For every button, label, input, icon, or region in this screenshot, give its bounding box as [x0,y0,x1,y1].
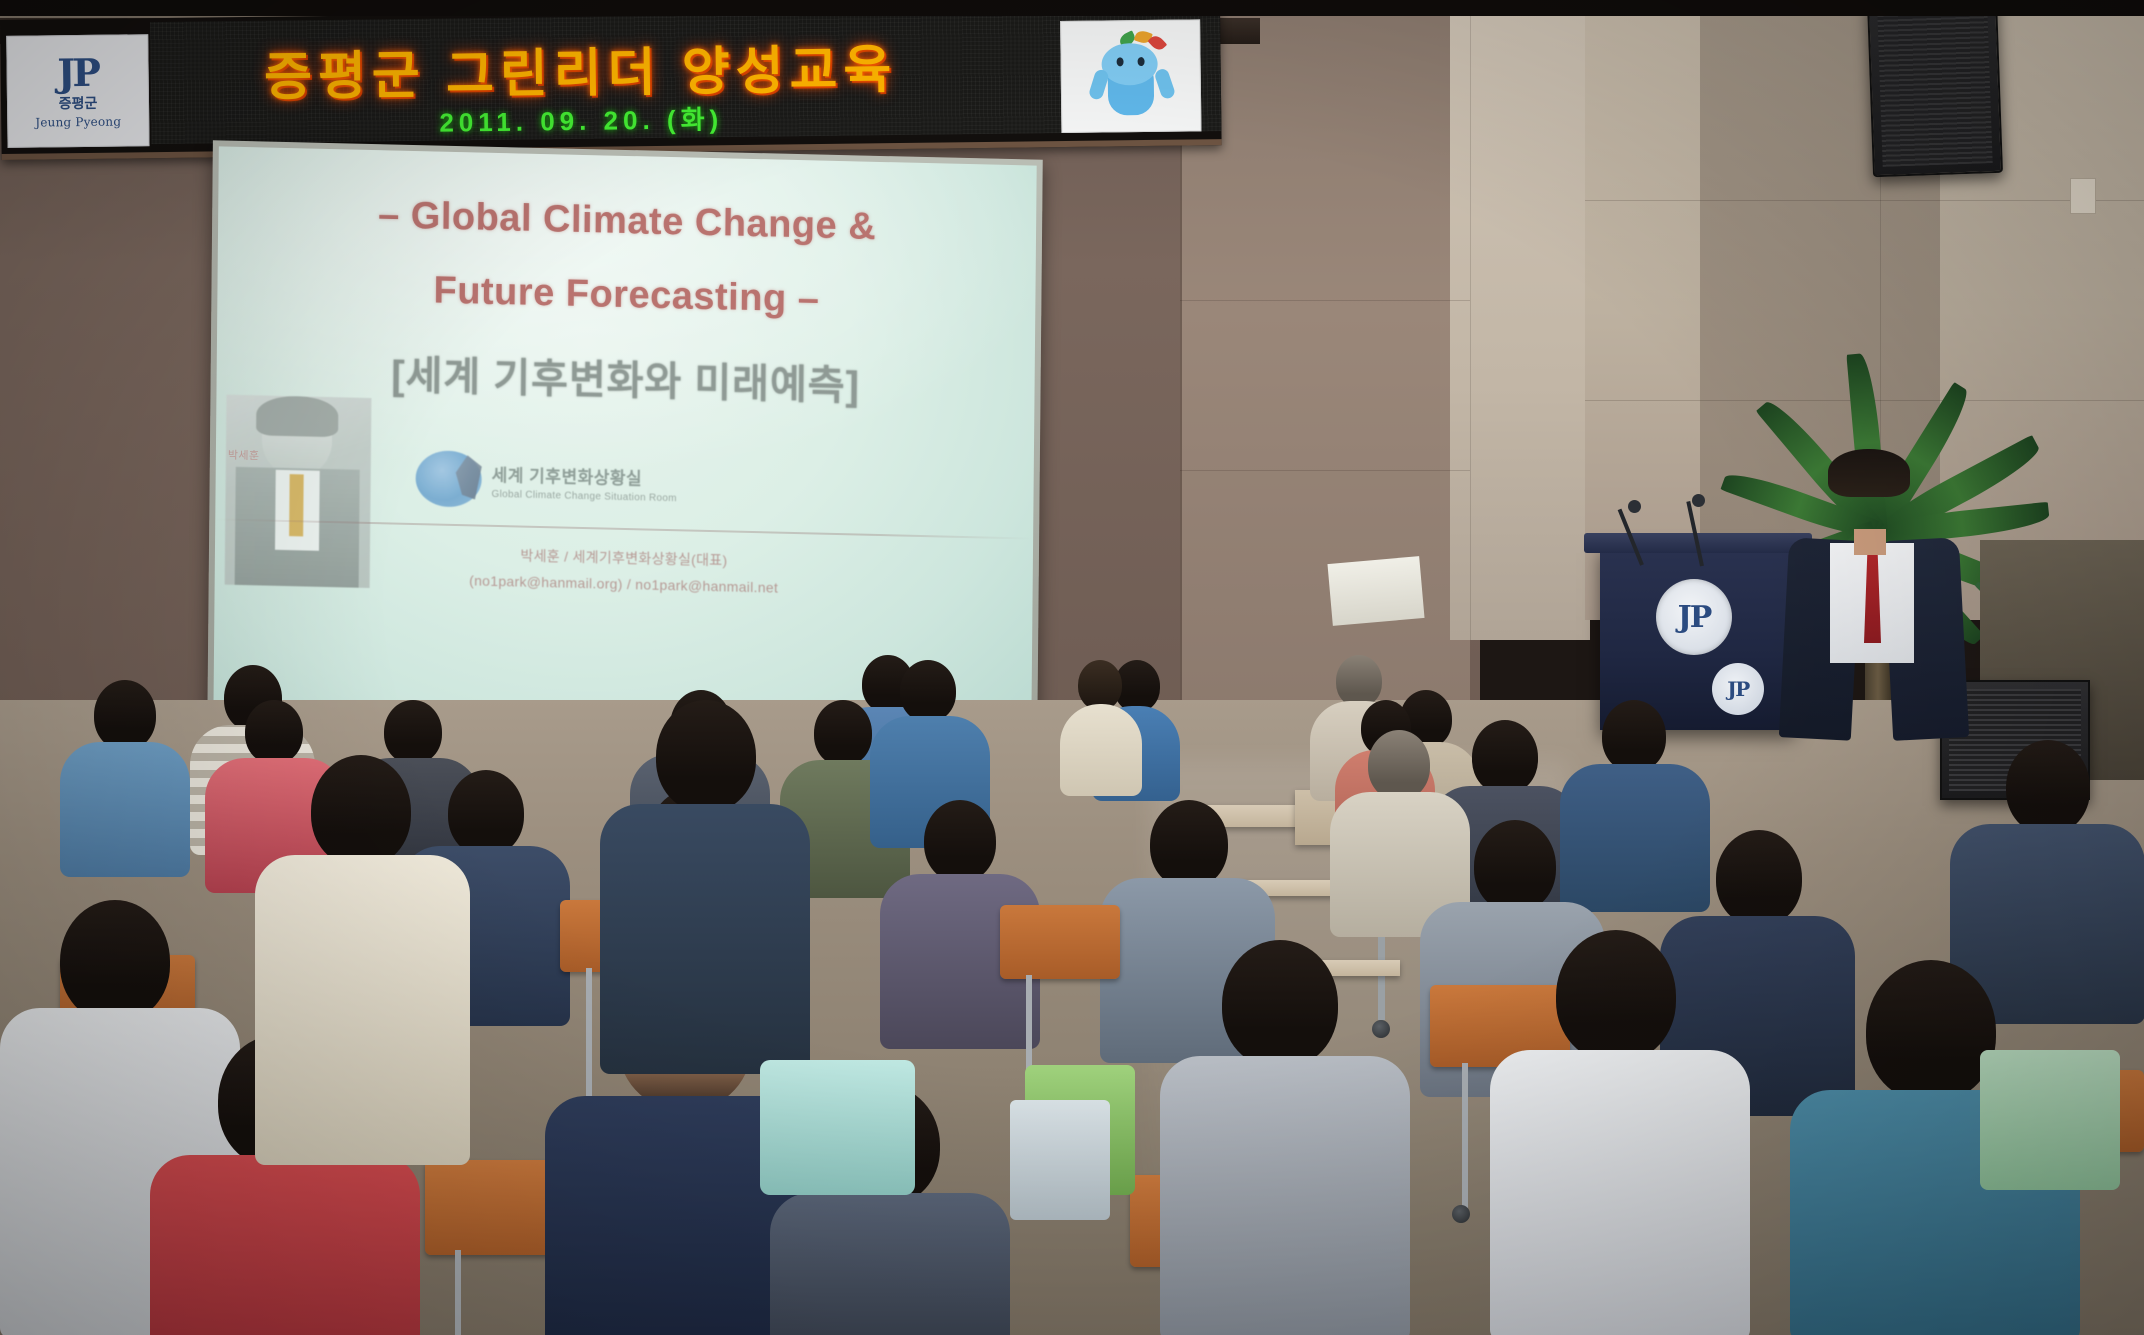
wall-seam [1585,200,2144,201]
person-head [311,755,411,867]
lecture-hall-photo: JP 증평군 Jeung Pyeong 증평군 그린리더 양성교육 2011. … [0,0,2144,1335]
audience-member [1160,940,1410,1335]
slide-title-line1: – Global Climate Change & [218,190,1036,252]
person-head [814,700,872,766]
audience-member [600,700,810,1060]
person-torso [1160,1056,1410,1335]
green-bag [1980,1050,2120,1190]
podium-emblem-secondary: JP [1712,663,1764,715]
mascot-eye [1138,57,1145,66]
jeungpyeong-logo: JP 증평군 Jeung Pyeong [6,34,149,148]
wall-seam-vertical [1470,0,1471,640]
wall-outlet [2070,178,2096,214]
audience-member [1060,660,1140,780]
person-head [1474,820,1556,912]
chair [1000,905,1120,979]
chair-leg [1462,1063,1468,1208]
slide-emblem: 세계 기후변화상황실 Global Climate Change Situati… [415,441,746,523]
emblem-korean-text: 세계 기후변화상황실 [492,460,678,489]
person-torso [255,855,470,1165]
paper-item [1010,1100,1110,1220]
person-head [1222,940,1338,1068]
chair-leg [455,1250,461,1335]
presenter [1770,455,1980,755]
person-head [1150,800,1228,888]
person-head [1472,720,1538,794]
audience-member [1490,930,1750,1335]
person-head [94,680,156,750]
person-head [1716,830,1802,926]
portrait-tie [289,474,304,536]
person-head [900,660,956,722]
mascot-arm [1153,67,1176,100]
person-head [1866,960,1996,1102]
led-banner: JP 증평군 Jeung Pyeong 증평군 그린리더 양성교육 2011. … [0,5,1222,160]
image-top-border [0,0,2144,16]
audience-member [60,680,190,870]
wall-seam [1180,300,1470,301]
teal-bag [760,1060,915,1195]
portrait-hair [256,395,338,437]
emblem-english-text: Global Climate Change Situation Room [491,488,676,503]
logo-english-name: Jeung Pyeong [35,114,121,129]
person-head [656,700,756,812]
mascot-icon [1060,19,1201,133]
person-torso [770,1193,1010,1335]
globe-icon [415,450,482,508]
portrait-caption: 박세훈 [228,447,260,464]
caster-wheel [1452,1205,1470,1223]
wall-loudspeaker [1867,0,2003,177]
podium-emblem-primary: JP [1656,579,1732,655]
person-torso [150,1155,420,1335]
audience-member [255,755,470,1155]
person-head [60,900,170,1022]
slide-title-line2: Future Forecasting – [217,264,1035,326]
speaker-grill [1877,8,1992,167]
person-torso [60,742,190,877]
person-head [924,800,996,882]
person-torso [600,804,810,1074]
person-torso [1490,1050,1750,1335]
paper-sheet [1327,556,1424,626]
presenter-hair [1828,449,1910,497]
logo-korean-name: 증평군 [59,92,98,112]
mascot-arm [1088,68,1110,101]
wall-column [1450,0,1590,640]
logo-mark: JP [57,53,98,91]
person-torso [1060,704,1142,796]
microphone-head [1692,494,1705,507]
wall-seam [1180,470,1470,471]
person-head [1078,660,1122,710]
person-head [1556,930,1676,1062]
person-head [1368,730,1430,800]
person-head [1602,700,1666,772]
microphone-head [1628,500,1641,513]
mascot-eye [1117,57,1124,66]
person-head [2006,740,2090,834]
